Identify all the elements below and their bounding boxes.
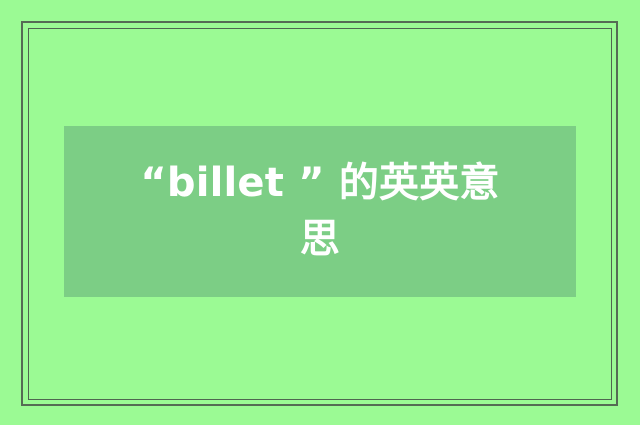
title-banner: “billet ” 的英英意思 xyxy=(64,126,576,297)
page-canvas: “billet ” 的英英意思 xyxy=(0,0,640,425)
page-title: “billet ” 的英英意思 xyxy=(136,156,504,266)
